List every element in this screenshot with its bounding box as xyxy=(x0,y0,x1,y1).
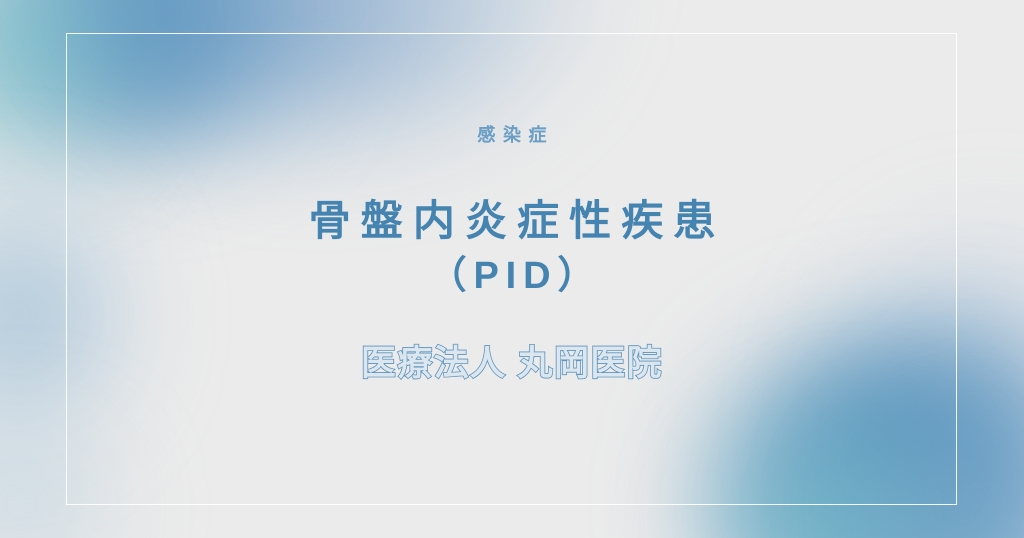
organization-name: 医療法人 丸岡医院 xyxy=(361,343,663,385)
page-title: 骨盤内炎症性疾患 xyxy=(299,195,726,246)
page-title-abbreviation: （PID） xyxy=(422,254,602,300)
slide-content: 感染症 骨盤内炎症性疾患 （PID） 医療法人 丸岡医院 xyxy=(0,0,1024,538)
category-label: 感染症 xyxy=(470,125,554,147)
title-slide: 感染症 骨盤内炎症性疾患 （PID） 医療法人 丸岡医院 xyxy=(0,0,1024,538)
